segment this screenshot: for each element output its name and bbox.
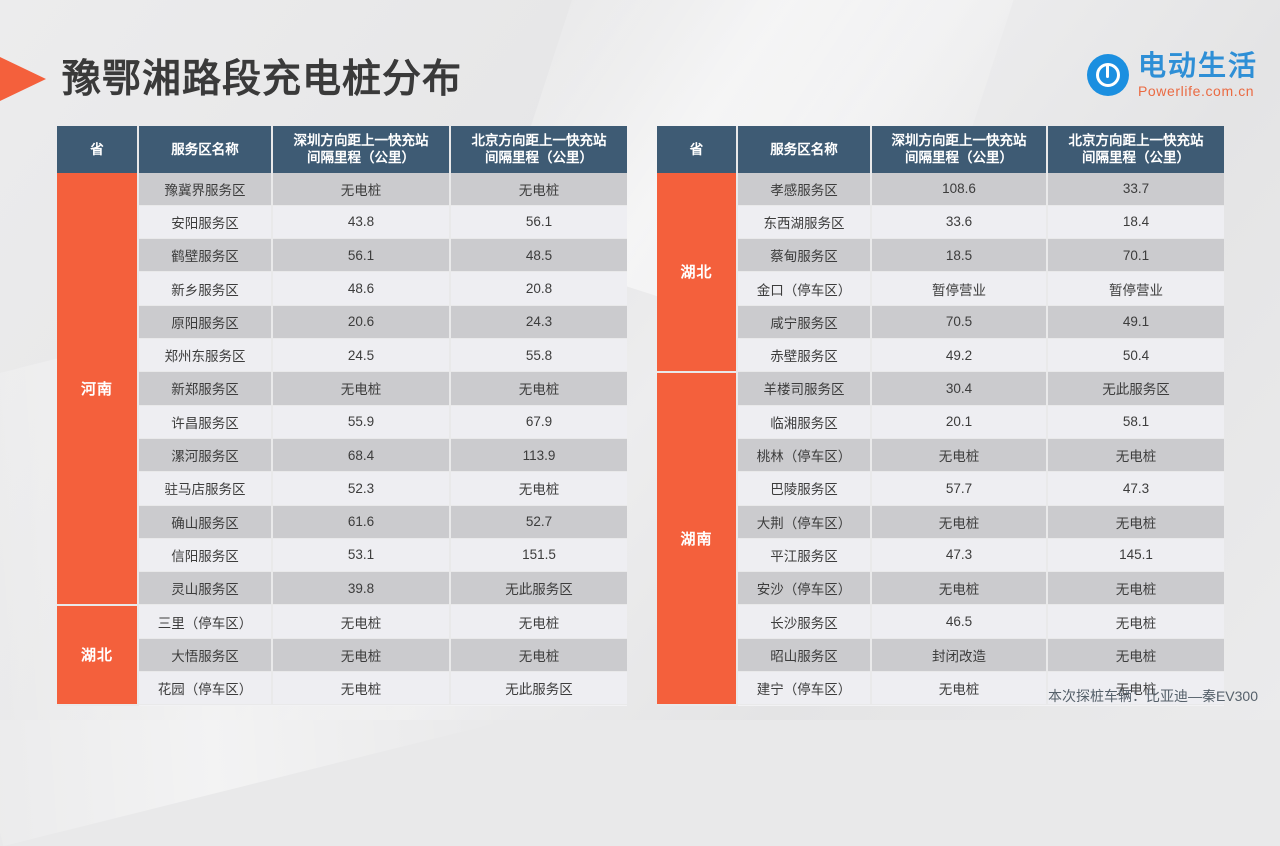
beijing-distance-cell: 无电桩 [450,372,627,405]
table-row: 金口（停车区）暂停营业暂停营业 [657,272,1224,305]
table-row: 灵山服务区39.8无此服务区 [57,572,627,605]
beijing-distance-cell: 113.9 [450,438,627,471]
service-area-cell: 巴陵服务区 [737,472,871,505]
table-row: 湖北孝感服务区108.633.7 [657,173,1224,206]
service-area-cell: 平江服务区 [737,538,871,571]
service-area-cell: 新乡服务区 [138,272,272,305]
table-row: 平江服务区47.3145.1 [657,538,1224,571]
table-row: 郑州东服务区24.555.8 [57,339,627,372]
service-area-cell: 金口（停车区） [737,272,871,305]
table-row: 河南豫冀界服务区无电桩无电桩 [57,173,627,206]
service-area-cell: 郑州东服务区 [138,339,272,372]
beijing-distance-cell: 20.8 [450,272,627,305]
column-header-service-area: 服务区名称 [737,126,871,173]
table-row: 驻马店服务区52.3无电桩 [57,472,627,505]
table-row: 蔡甸服务区18.570.1 [657,239,1224,272]
table-row: 东西湖服务区33.618.4 [657,205,1224,238]
shenzhen-distance-cell: 暂停营业 [871,272,1047,305]
shenzhen-distance-cell: 无电桩 [871,671,1047,704]
service-area-cell: 驻马店服务区 [138,472,272,505]
service-area-cell: 灵山服务区 [138,572,272,605]
service-area-cell: 信阳服务区 [138,538,272,571]
table-row: 安沙（停车区）无电桩无电桩 [657,572,1224,605]
service-area-cell: 东西湖服务区 [737,205,871,238]
service-area-cell: 鹤壁服务区 [138,239,272,272]
column-header-shenzhen-direction: 深圳方向距上一快充站 间隔里程（公里） [871,126,1047,173]
beijing-distance-cell: 无电桩 [1047,572,1224,605]
table-row: 原阳服务区20.624.3 [57,305,627,338]
shenzhen-distance-cell: 封闭改造 [871,638,1047,671]
brand-logo: 电动生活 Powerlife.com.cn [1087,52,1258,98]
beijing-distance-cell: 无此服务区 [1047,372,1224,405]
table-row: 花园（停车区）无电桩无此服务区 [57,671,627,704]
beijing-distance-cell: 无此服务区 [450,572,627,605]
brand-name-en: Powerlife.com.cn [1138,84,1258,98]
table-row: 确山服务区61.652.7 [57,505,627,538]
shenzhen-distance-cell: 56.1 [272,239,450,272]
column-header-service-area: 服务区名称 [138,126,272,173]
beijing-distance-cell: 67.9 [450,405,627,438]
shenzhen-distance-cell: 无电桩 [272,372,450,405]
service-area-cell: 大荆（停车区） [737,505,871,538]
table-row: 漯河服务区68.4113.9 [57,438,627,471]
beijing-distance-cell: 48.5 [450,239,627,272]
service-area-cell: 孝感服务区 [737,173,871,206]
service-area-cell: 临湘服务区 [737,405,871,438]
table-row: 信阳服务区53.1151.5 [57,538,627,571]
beijing-distance-cell: 24.3 [450,305,627,338]
header-line-2: 间隔里程（公里） [1050,149,1222,166]
province-cell: 湖北 [57,605,138,705]
brand-text: 电动生活 Powerlife.com.cn [1138,52,1258,98]
service-area-cell: 漯河服务区 [138,438,272,471]
header-line-2: 间隔里程（公里） [874,149,1044,166]
column-header-shenzhen-direction: 深圳方向距上一快充站 间隔里程（公里） [272,126,450,173]
beijing-distance-cell: 151.5 [450,538,627,571]
shenzhen-distance-cell: 48.6 [272,272,450,305]
shenzhen-distance-cell: 49.2 [871,339,1047,372]
shenzhen-distance-cell: 47.3 [871,538,1047,571]
beijing-distance-cell: 无电桩 [450,605,627,638]
shenzhen-distance-cell: 无电桩 [272,671,450,704]
table-row: 鹤壁服务区56.148.5 [57,239,627,272]
shenzhen-distance-cell: 无电桩 [871,572,1047,605]
header-line-1: 北京方向距上一快充站 [1050,132,1222,149]
service-area-cell: 安沙（停车区） [737,572,871,605]
service-area-cell: 建宁（停车区） [737,671,871,704]
beijing-distance-cell: 无电桩 [1047,438,1224,471]
beijing-distance-cell: 无电桩 [450,173,627,206]
shenzhen-distance-cell: 18.5 [871,239,1047,272]
table-left-body: 河南豫冀界服务区无电桩无电桩安阳服务区43.856.1鹤壁服务区56.148.5… [57,173,627,705]
beijing-distance-cell: 55.8 [450,339,627,372]
table-row: 安阳服务区43.856.1 [57,205,627,238]
table-row: 湖北三里（停车区）无电桩无电桩 [57,605,627,638]
table-row: 大悟服务区无电桩无电桩 [57,638,627,671]
footnote-test-vehicle: 本次探桩车辆：比亚迪—秦EV300 [1048,686,1258,706]
header-line-2: 间隔里程（公里） [275,149,447,166]
province-cell: 河南 [57,173,138,605]
service-area-cell: 长沙服务区 [737,605,871,638]
shenzhen-distance-cell: 33.6 [871,205,1047,238]
shenzhen-distance-cell: 无电桩 [871,438,1047,471]
table-row: 长沙服务区46.5无电桩 [657,605,1224,638]
shenzhen-distance-cell: 55.9 [272,405,450,438]
table-row: 新乡服务区48.620.8 [57,272,627,305]
header-line-1: 深圳方向距上一快充站 [874,132,1044,149]
table-row: 湖南羊楼司服务区30.4无此服务区 [657,372,1224,405]
table-header-row: 省 服务区名称 深圳方向距上一快充站 间隔里程（公里） 北京方向距上一快充站 间… [57,126,627,173]
column-header-province: 省 [657,126,737,173]
shenzhen-distance-cell: 61.6 [272,505,450,538]
power-button-icon [1087,54,1129,96]
service-area-cell: 蔡甸服务区 [737,239,871,272]
service-area-cell: 大悟服务区 [138,638,272,671]
service-area-cell: 桃林（停车区） [737,438,871,471]
shenzhen-distance-cell: 52.3 [272,472,450,505]
shenzhen-distance-cell: 53.1 [272,538,450,571]
shenzhen-distance-cell: 24.5 [272,339,450,372]
shenzhen-distance-cell: 无电桩 [871,505,1047,538]
service-area-cell: 花园（停车区） [138,671,272,704]
beijing-distance-cell: 49.1 [1047,305,1224,338]
shenzhen-distance-cell: 57.7 [871,472,1047,505]
shenzhen-distance-cell: 39.8 [272,572,450,605]
beijing-distance-cell: 47.3 [1047,472,1224,505]
beijing-distance-cell: 56.1 [450,205,627,238]
shenzhen-distance-cell: 20.1 [871,405,1047,438]
beijing-distance-cell: 52.7 [450,505,627,538]
shenzhen-distance-cell: 70.5 [871,305,1047,338]
shenzhen-distance-cell: 无电桩 [272,638,450,671]
beijing-distance-cell: 无电桩 [1047,605,1224,638]
shenzhen-distance-cell: 46.5 [871,605,1047,638]
service-area-cell: 咸宁服务区 [737,305,871,338]
beijing-distance-cell: 无电桩 [450,638,627,671]
service-area-cell: 昭山服务区 [737,638,871,671]
table-row: 大荆（停车区）无电桩无电桩 [657,505,1224,538]
service-area-cell: 确山服务区 [138,505,272,538]
table-left-header: 省 服务区名称 深圳方向距上一快充站 间隔里程（公里） 北京方向距上一快充站 间… [57,126,627,173]
shenzhen-distance-cell: 20.6 [272,305,450,338]
service-area-cell: 三里（停车区） [138,605,272,638]
table-row: 昭山服务区封闭改造无电桩 [657,638,1224,671]
beijing-distance-cell: 145.1 [1047,538,1224,571]
charging-table-left: 省 服务区名称 深圳方向距上一快充站 间隔里程（公里） 北京方向距上一快充站 间… [57,126,627,706]
table-row: 新郑服务区无电桩无电桩 [57,372,627,405]
service-area-cell: 豫冀界服务区 [138,173,272,206]
beijing-distance-cell: 无电桩 [450,472,627,505]
service-area-cell: 安阳服务区 [138,205,272,238]
shenzhen-distance-cell: 30.4 [871,372,1047,405]
brand-name-cn: 电动生活 [1138,52,1258,80]
table-row: 许昌服务区55.967.9 [57,405,627,438]
table-header-row: 省 服务区名称 深圳方向距上一快充站 间隔里程（公里） 北京方向距上一快充站 间… [657,126,1224,173]
header-line-1: 北京方向距上一快充站 [453,132,625,149]
column-header-beijing-direction: 北京方向距上一快充站 间隔里程（公里） [450,126,627,173]
service-area-cell: 羊楼司服务区 [737,372,871,405]
province-cell: 湖南 [657,372,737,705]
column-header-beijing-direction: 北京方向距上一快充站 间隔里程（公里） [1047,126,1224,173]
table-right-header: 省 服务区名称 深圳方向距上一快充站 间隔里程（公里） 北京方向距上一快充站 间… [657,126,1224,173]
beijing-distance-cell: 暂停营业 [1047,272,1224,305]
province-cell: 湖北 [657,173,737,372]
table-row: 临湘服务区20.158.1 [657,405,1224,438]
service-area-cell: 赤壁服务区 [737,339,871,372]
title-arrow-icon [0,57,46,101]
shenzhen-distance-cell: 无电桩 [272,173,450,206]
shenzhen-distance-cell: 108.6 [871,173,1047,206]
table-row: 咸宁服务区70.549.1 [657,305,1224,338]
column-header-province: 省 [57,126,138,173]
beijing-distance-cell: 无电桩 [1047,505,1224,538]
table-right-body: 湖北孝感服务区108.633.7东西湖服务区33.618.4蔡甸服务区18.57… [657,173,1224,705]
table-row: 桃林（停车区）无电桩无电桩 [657,438,1224,471]
beijing-distance-cell: 70.1 [1047,239,1224,272]
header-line-2: 间隔里程（公里） [453,149,625,166]
beijing-distance-cell: 58.1 [1047,405,1224,438]
shenzhen-distance-cell: 43.8 [272,205,450,238]
beijing-distance-cell: 无此服务区 [450,671,627,704]
beijing-distance-cell: 18.4 [1047,205,1224,238]
charging-table-right: 省 服务区名称 深圳方向距上一快充站 间隔里程（公里） 北京方向距上一快充站 间… [657,126,1224,706]
page-title: 豫鄂湘路段充电桩分布 [62,48,462,104]
service-area-cell: 许昌服务区 [138,405,272,438]
beijing-distance-cell: 33.7 [1047,173,1224,206]
shenzhen-distance-cell: 无电桩 [272,605,450,638]
beijing-distance-cell: 50.4 [1047,339,1224,372]
service-area-cell: 原阳服务区 [138,305,272,338]
service-area-cell: 新郑服务区 [138,372,272,405]
shenzhen-distance-cell: 68.4 [272,438,450,471]
header-line-1: 深圳方向距上一快充站 [275,132,447,149]
table-row: 赤壁服务区49.250.4 [657,339,1224,372]
beijing-distance-cell: 无电桩 [1047,638,1224,671]
table-row: 巴陵服务区57.747.3 [657,472,1224,505]
